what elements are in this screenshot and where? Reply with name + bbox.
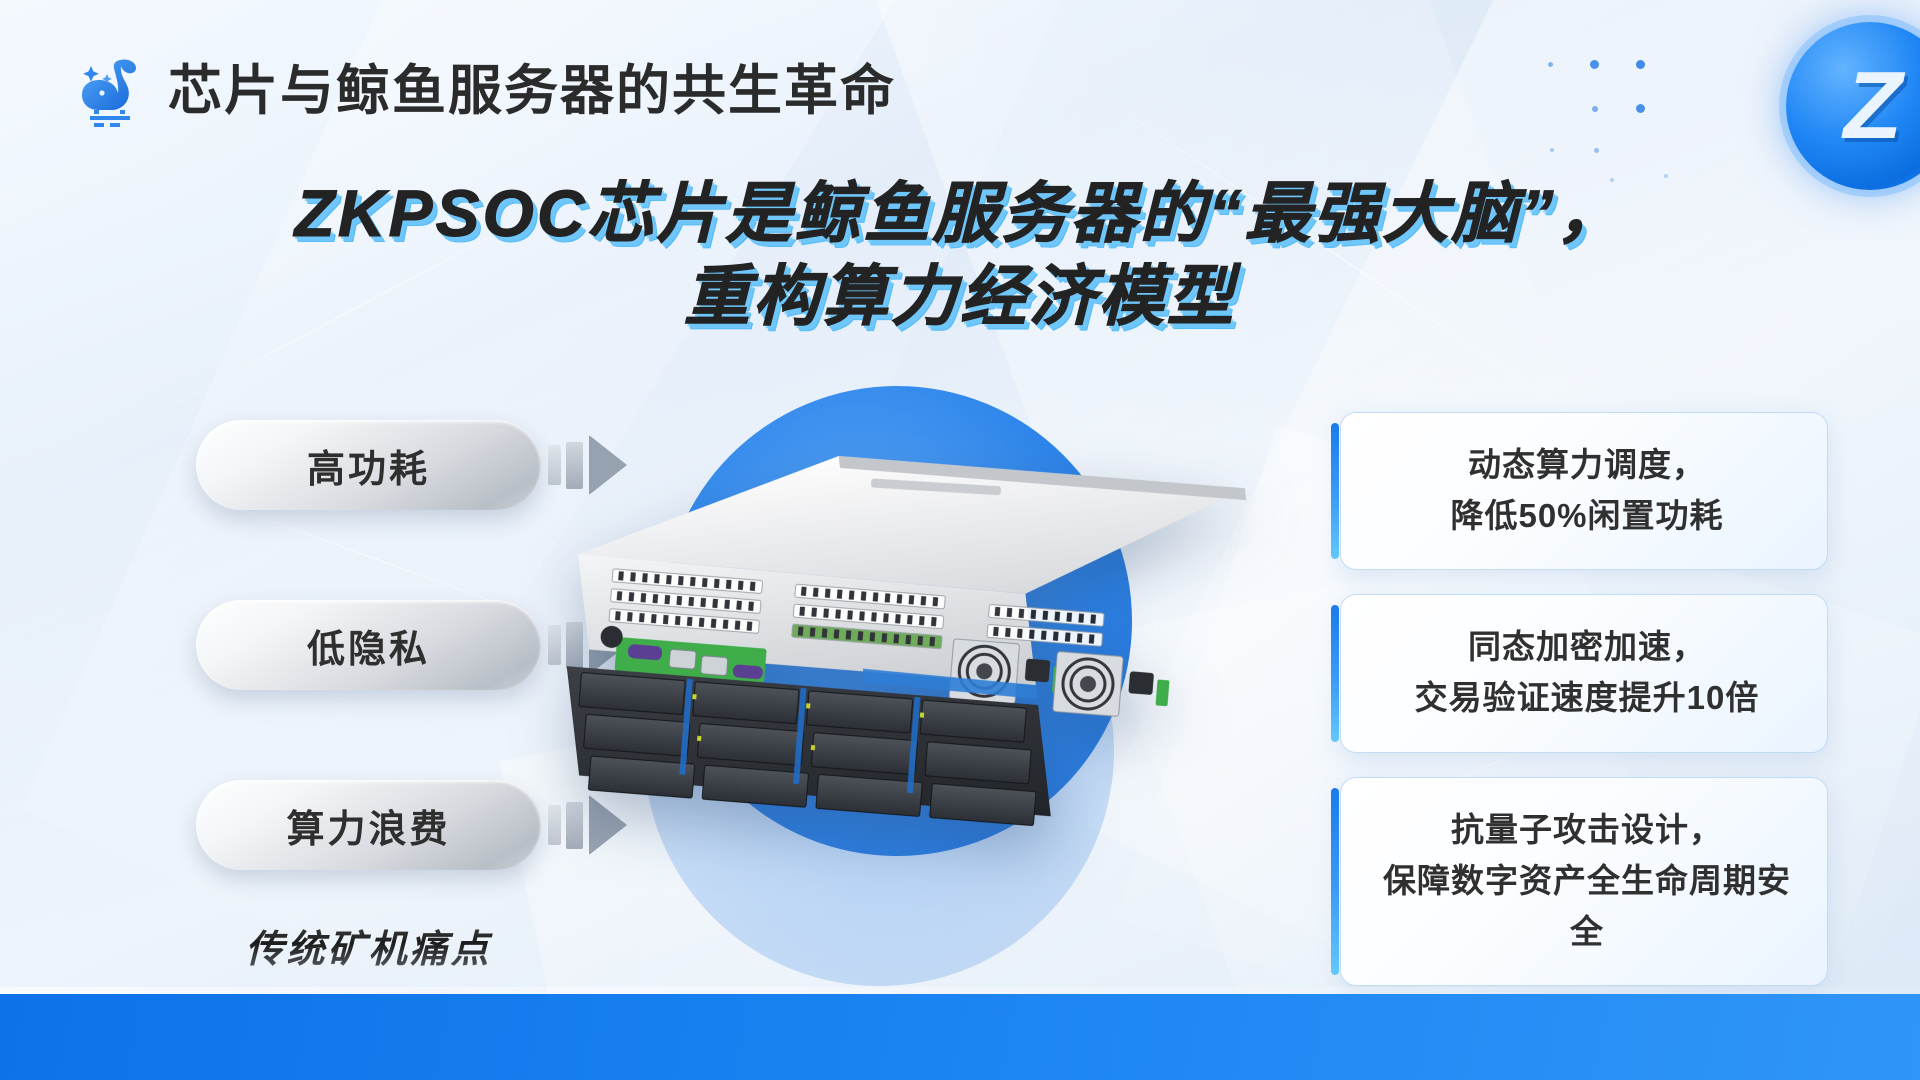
benefit-card[interactable]: 抗量子攻击设计， 保障数字资产全生命周期安全 bbox=[1340, 777, 1828, 986]
benefit-line-1: 同态加密加速， bbox=[1375, 621, 1799, 672]
coin-glyph: Z bbox=[1844, 51, 1897, 161]
benefit-card[interactable]: 动态算力调度， 降低50%闲置功耗 bbox=[1340, 412, 1828, 570]
benefit-line-2: 降低50%闲置功耗 bbox=[1375, 490, 1799, 541]
slide-canvas: 芯片与鲸鱼服务器的共生革命 Z ZKPSOC芯片是鲸鱼服务器的“最强大脑”， 重… bbox=[0, 0, 1920, 1080]
hero-line-1: ZKPSOC芯片是鲸鱼服务器的“最强大脑”， bbox=[0, 172, 1920, 255]
pain-point-label: 低隐私 bbox=[307, 618, 430, 673]
pain-point-item[interactable]: 算力浪费 bbox=[196, 780, 541, 870]
product-stage bbox=[620, 378, 1260, 938]
pain-point-list: 高功耗 低隐私 算力浪费 传统矿机痛点 bbox=[196, 420, 556, 973]
page-title: 芯片与鲸鱼服务器的共生革命 bbox=[168, 64, 896, 118]
hero-line-2: 重构算力经济模型 bbox=[0, 255, 1920, 338]
pain-point-label: 算力浪费 bbox=[286, 798, 450, 853]
benefit-line-1: 动态算力调度， bbox=[1375, 439, 1799, 490]
whale-icon bbox=[76, 52, 146, 130]
pain-point-item[interactable]: 低隐私 bbox=[196, 600, 541, 690]
hero-headline: ZKPSOC芯片是鲸鱼服务器的“最强大脑”， 重构算力经济模型 bbox=[0, 172, 1920, 337]
pain-point-label: 高功耗 bbox=[307, 438, 430, 493]
dot-grid-decoration bbox=[1548, 62, 1698, 182]
benefit-card[interactable]: 同态加密加速， 交易验证速度提升10倍 bbox=[1340, 594, 1828, 752]
pain-point-caption: 传统矿机痛点 bbox=[196, 918, 541, 973]
zkp-coin-icon[interactable]: Z bbox=[1786, 22, 1920, 190]
benefit-line-1: 抗量子攻击设计， bbox=[1375, 804, 1799, 855]
rack-server-image bbox=[539, 391, 1302, 890]
slide-header: 芯片与鲸鱼服务器的共生革命 bbox=[76, 52, 896, 130]
bottom-accent-bar bbox=[0, 994, 1920, 1080]
benefit-line-2: 保障数字资产全生命周期安全 bbox=[1375, 855, 1799, 957]
benefit-line-2: 交易验证速度提升10倍 bbox=[1375, 672, 1799, 723]
pain-point-item[interactable]: 高功耗 bbox=[196, 420, 541, 510]
benefit-card-list: 动态算力调度， 降低50%闲置功耗 同态加密加速， 交易验证速度提升10倍 抗量… bbox=[1340, 412, 1828, 1010]
